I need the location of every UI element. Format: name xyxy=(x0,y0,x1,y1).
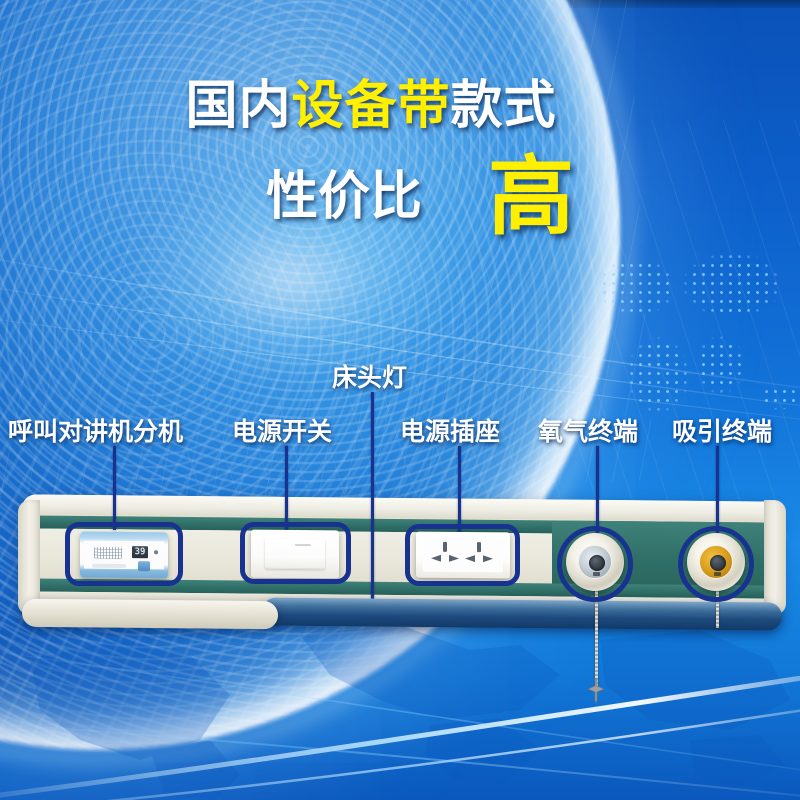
power-switch[interactable] xyxy=(251,530,339,579)
suction-terminal[interactable] xyxy=(687,533,745,591)
oxygen-terminal-marking xyxy=(593,572,600,576)
oxygen-terminal-ring xyxy=(578,545,612,579)
callout-label-bed-lamp: 床头灯 xyxy=(332,358,407,394)
callout-label-nurse-call: 呼叫对讲机分机 xyxy=(8,412,183,448)
power-socket[interactable] xyxy=(416,532,510,579)
suction-terminal-ring xyxy=(699,545,733,579)
headline-line-2: 性价比 高 xyxy=(0,154,800,240)
pull-cord-oxygen[interactable] xyxy=(595,580,598,690)
speaker-grille-icon xyxy=(94,547,122,559)
socket-pin-earth-left xyxy=(443,542,447,552)
leader-line-power-switch xyxy=(285,446,288,530)
intercom-faceplate: 39 xyxy=(84,541,164,570)
socket-outlet-left[interactable] xyxy=(429,542,463,568)
leader-line-suction-terminal xyxy=(716,446,719,538)
panel-end-cap-right xyxy=(764,500,786,614)
socket-pin-live-right xyxy=(465,555,475,562)
panel-end-cap-left xyxy=(18,500,40,614)
callout-label-power-socket: 电源插座 xyxy=(400,412,500,448)
intercom-indicator-led xyxy=(154,550,158,554)
socket-pin-neutral-right xyxy=(483,555,493,562)
callout-label-oxygen-terminal: 氧气终端 xyxy=(538,412,638,448)
socket-pin-earth-right xyxy=(477,542,481,552)
headline-seg-1: 国内 xyxy=(185,77,291,135)
switch-indent-line xyxy=(295,544,311,546)
leader-line-bed-lamp xyxy=(371,392,374,610)
poster-canvas: 国内设备带款式 性价比 高 呼叫对讲机分机 电源开关 床头灯 电源插座 氧气终端… xyxy=(0,0,800,800)
socket-faceplate xyxy=(423,538,503,573)
intercom-display: 39 xyxy=(132,546,148,558)
socket-outlet-right[interactable] xyxy=(463,542,497,568)
headline-block: 国内设备带款式 性价比 高 xyxy=(0,80,800,240)
headline-line-1: 国内设备带款式 xyxy=(0,80,800,132)
headline-seg-2: 设备带 xyxy=(291,77,450,135)
intercom-label-slot xyxy=(92,564,126,568)
panel-lower-rail-left xyxy=(22,599,278,629)
suction-terminal-port[interactable] xyxy=(710,555,726,571)
headline-seg-3: 款式 xyxy=(451,77,557,135)
callout-label-suction-terminal: 吸引终端 xyxy=(672,412,772,448)
leader-line-nurse-call xyxy=(113,446,116,530)
nurse-call-intercom[interactable]: 39 xyxy=(80,532,168,579)
socket-pin-live-left xyxy=(431,555,441,562)
leader-line-oxygen-terminal xyxy=(596,446,599,538)
oxygen-terminal-port[interactable] xyxy=(589,555,605,571)
socket-pin-neutral-left xyxy=(449,555,459,562)
oxygen-terminal[interactable] xyxy=(566,533,624,591)
intercom-call-button[interactable] xyxy=(138,561,150,571)
headline-value-phrase: 性价比 xyxy=(266,171,422,223)
dotted-world-map xyxy=(600,225,800,440)
headline-emphasis-word: 高 xyxy=(488,154,574,240)
suction-terminal-marking xyxy=(714,572,721,576)
callout-label-power-switch: 电源开关 xyxy=(232,412,332,448)
panel-lower-light-diffuser xyxy=(262,598,782,631)
cord-hook-icon xyxy=(584,678,608,704)
switch-rocker[interactable] xyxy=(265,539,325,570)
leader-line-power-socket xyxy=(458,446,461,532)
